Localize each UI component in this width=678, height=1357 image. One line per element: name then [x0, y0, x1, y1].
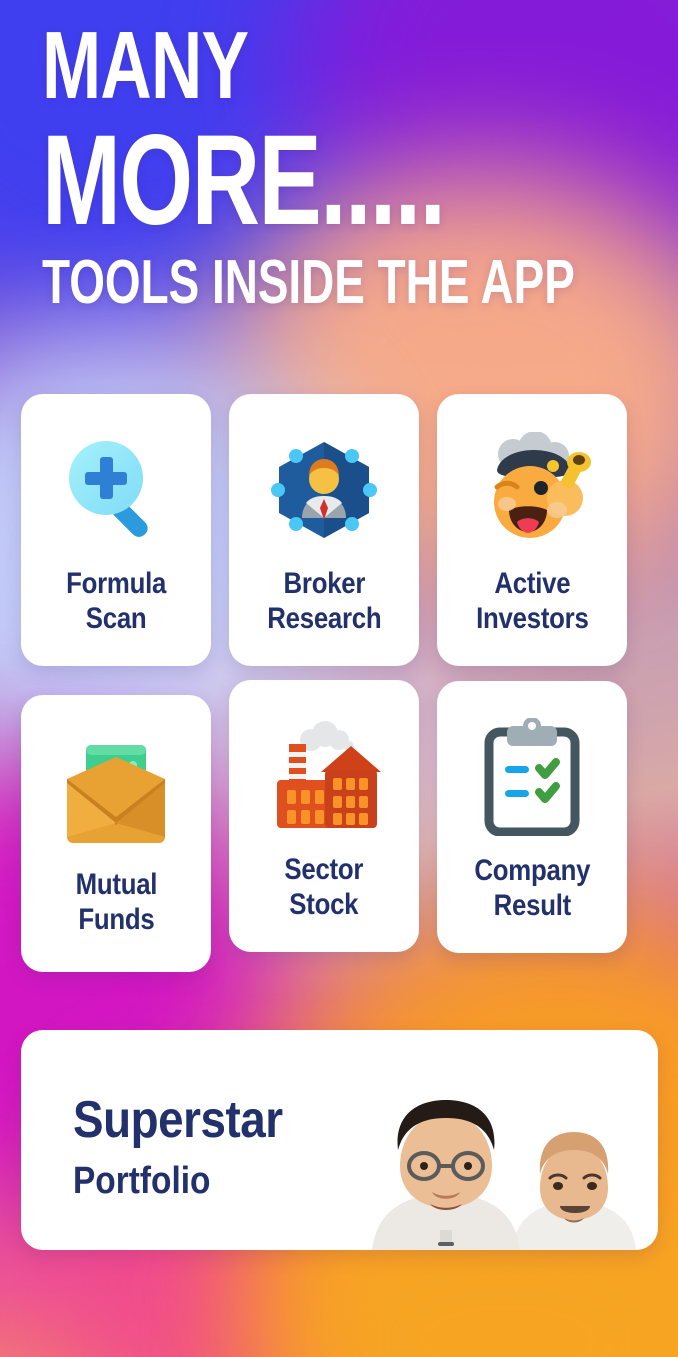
banner-title: Superstar	[73, 1094, 283, 1146]
tool-card-label: Sector Stock	[285, 852, 364, 922]
clipboard-checklist-icon	[479, 707, 585, 847]
tool-card-active-investors[interactable]: Active Investors	[437, 394, 627, 666]
tool-card-label: Formula Scan	[66, 566, 166, 636]
tool-card-formula-scan[interactable]: Formula Scan	[21, 394, 211, 666]
money-envelope-icon	[55, 721, 177, 861]
tool-card-label: Broker Research	[267, 566, 381, 636]
headline-line-1: MANY	[42, 22, 498, 110]
tool-card-label: Company Result	[474, 853, 590, 923]
tool-card-mutual-funds[interactable]: Mutual Funds	[21, 695, 211, 972]
headline-subtitle: TOOLS INSIDE THE APP	[42, 254, 498, 311]
banner-subtitle: Portfolio	[73, 1162, 283, 1200]
tool-card-company-result[interactable]: Company Result	[437, 681, 627, 953]
sailor-face-pipe-icon	[469, 420, 595, 560]
tool-card-grid: Formula Scan	[21, 394, 659, 972]
tool-card-label: Active Investors	[476, 566, 588, 636]
hexagon-businessman-icon	[264, 420, 384, 560]
headline-line-2: MORE.....	[42, 122, 498, 240]
tool-card-label: Mutual Funds	[75, 867, 157, 937]
investor-portraits-artwork	[344, 1070, 654, 1250]
magnifier-plus-icon	[57, 420, 175, 560]
promo-screen: MANY MORE..... TOOLS INSIDE THE APP Form…	[0, 0, 678, 1357]
superstar-portfolio-banner[interactable]: Superstar Portfolio	[21, 1030, 658, 1250]
headline-block: MANY MORE..... TOOLS INSIDE THE APP	[42, 22, 658, 311]
factory-icon	[263, 706, 385, 846]
tool-card-broker-research[interactable]: Broker Research	[229, 394, 419, 666]
banner-text-block: Superstar Portfolio	[73, 1094, 311, 1200]
tool-card-sector-stock[interactable]: Sector Stock	[229, 680, 419, 952]
